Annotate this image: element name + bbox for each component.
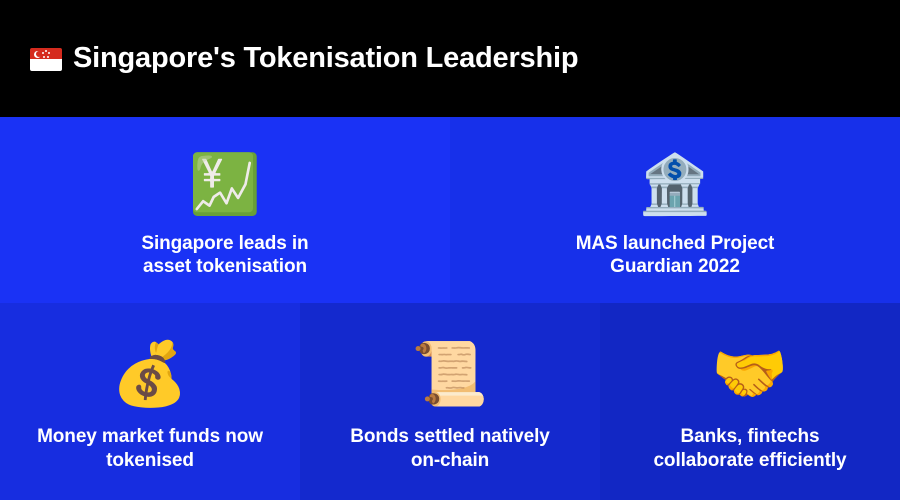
singapore-flag-icon — [30, 48, 62, 71]
feature-card-label-line2: Guardian 2022 — [610, 256, 740, 277]
feature-card-label-line2: on-chain — [411, 450, 489, 471]
page-title: Singapore's Tokenisation Leadership — [30, 43, 578, 75]
money-bag-icon: 💰 — [111, 337, 188, 413]
feature-card-label: Singapore leads in asset tokenisation — [141, 232, 308, 278]
feature-card-banks-fintechs[interactable]: 🤝 Banks, fintechs collaborate efficientl… — [600, 303, 900, 500]
bank-icon: 🏦 — [639, 152, 711, 218]
feature-card-label-line1: Singapore leads in — [141, 233, 308, 254]
feature-card-asset-tokenisation[interactable]: 💹 Singapore leads in asset tokenisation — [0, 117, 450, 303]
feature-card-label-line1: Money market funds now — [37, 426, 263, 447]
feature-card-label-line1: MAS launched Project — [576, 233, 775, 254]
slide-canvas: Singapore's Tokenisation Leadership 💹 Si… — [0, 0, 900, 500]
feature-card-project-guardian[interactable]: 🏦 MAS launched Project Guardian 2022 — [450, 117, 900, 303]
feature-card-money-market-funds[interactable]: 💰 Money market funds now tokenised — [0, 303, 300, 500]
chart-increasing-with-yen-icon: 💹 — [189, 152, 261, 218]
feature-card-label: MAS launched Project Guardian 2022 — [576, 232, 775, 278]
page-title-text: Singapore's Tokenisation Leadership — [73, 43, 578, 75]
feature-card-label: Money market funds now tokenised — [37, 425, 263, 471]
feature-card-label: Banks, fintechs collaborate efficiently — [653, 425, 846, 471]
feature-grid-top-row: 💹 Singapore leads in asset tokenisation … — [0, 117, 900, 303]
feature-card-label-line1: Bonds settled natively — [350, 426, 549, 447]
feature-card-bonds-on-chain[interactable]: 📜 Bonds settled natively on-chain — [300, 303, 600, 500]
scroll-icon: 📜 — [411, 337, 488, 413]
feature-card-label-line2: tokenised — [106, 450, 194, 471]
feature-card-label-line2: collaborate efficiently — [653, 450, 846, 471]
handshake-icon: 🤝 — [711, 337, 788, 413]
feature-card-label-line2: asset tokenisation — [143, 256, 307, 277]
feature-card-label-line1: Banks, fintechs — [681, 426, 820, 447]
slide-header: Singapore's Tokenisation Leadership — [0, 0, 900, 117]
feature-card-label: Bonds settled natively on-chain — [350, 425, 549, 471]
feature-grid-bottom-row: 💰 Money market funds now tokenised 📜 Bon… — [0, 303, 900, 500]
